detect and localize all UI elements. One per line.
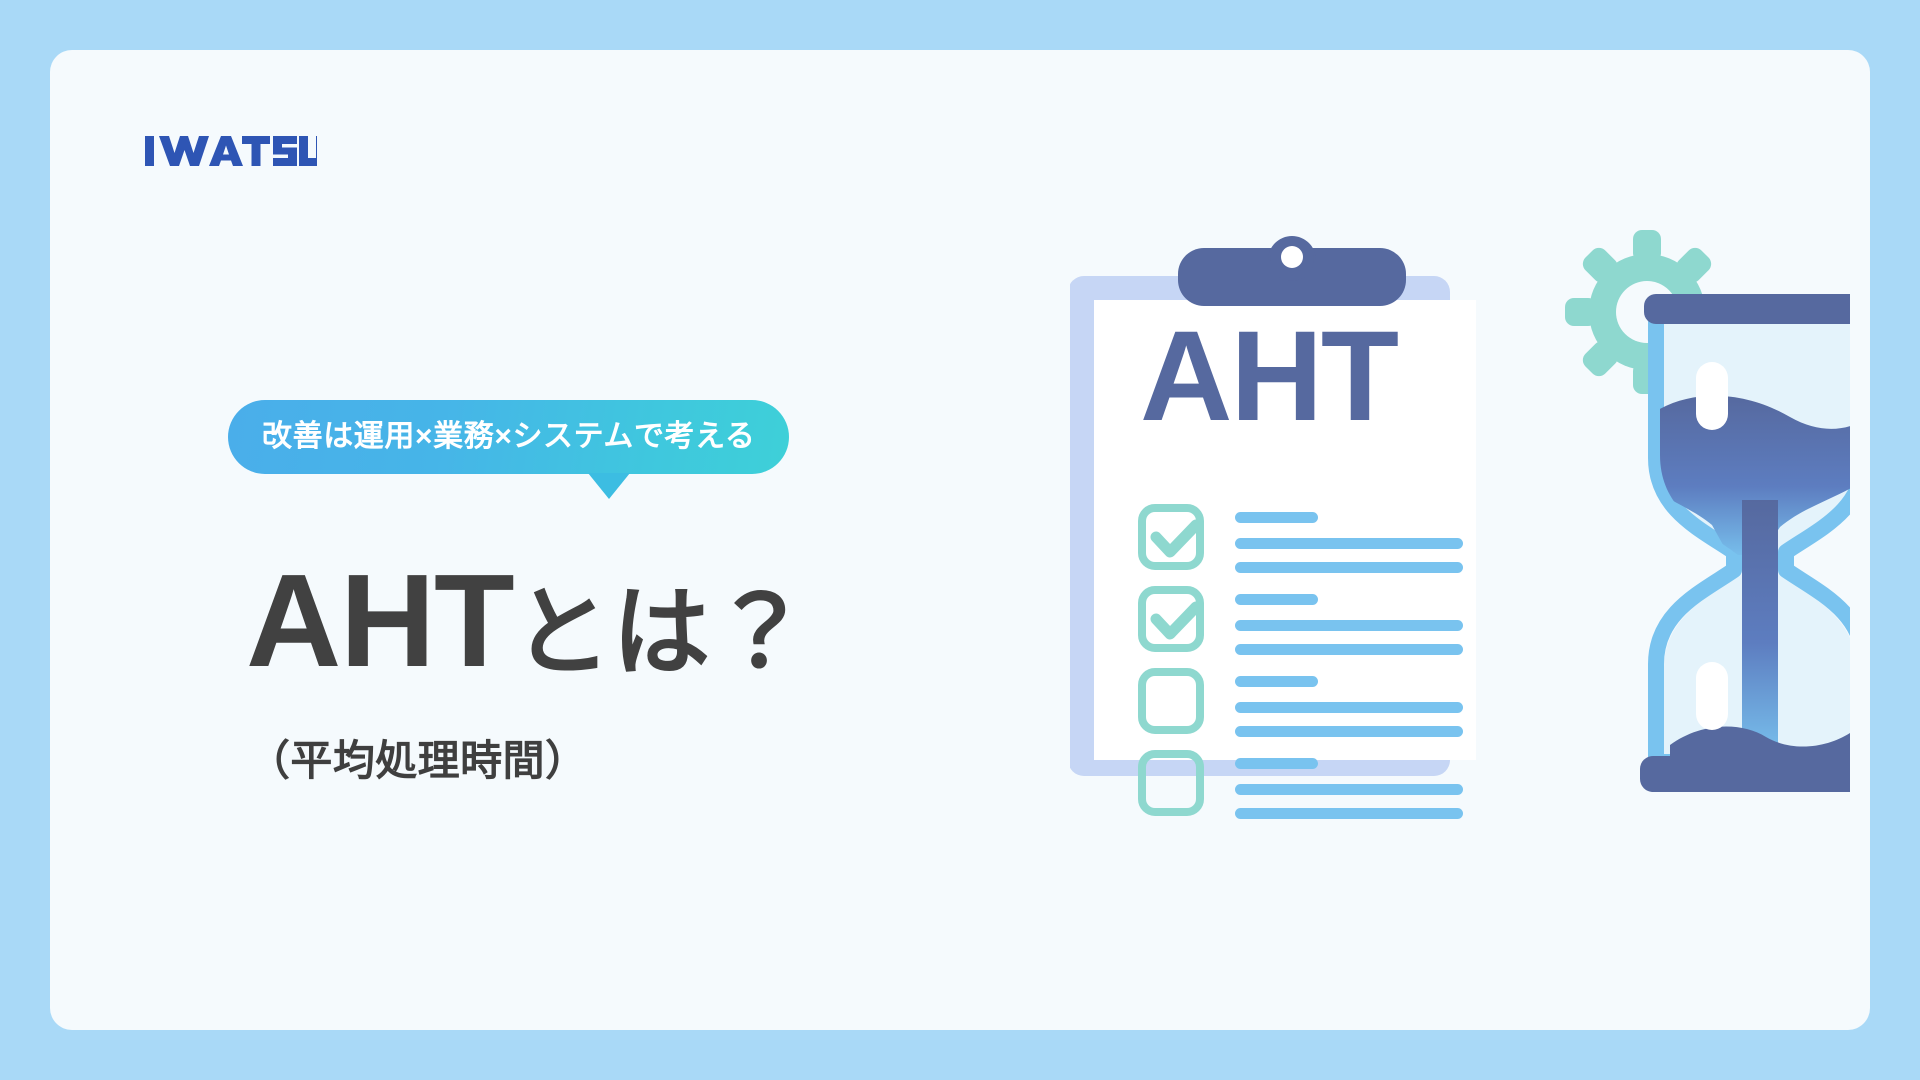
- badge-tail-icon: [588, 473, 630, 499]
- page-title-suffix: とは？: [513, 577, 810, 687]
- tagline-text: 改善は運用×業務×システムで考える: [262, 420, 755, 453]
- content-card: IWATSU 改善は運用×業務×システムで考える AHTとは？ （平均処理時間）: [50, 50, 1870, 1030]
- hourglass-base: [1640, 756, 1850, 792]
- clipboard-clip: [1178, 236, 1406, 306]
- page-root: IWATSU 改善は運用×業務×システムで考える AHTとは？ （平均処理時間）: [0, 0, 1920, 1080]
- page-title: AHTとは？: [246, 555, 810, 687]
- hourglass-highlight: [1696, 662, 1728, 730]
- clipboard: AHT: [1070, 236, 1476, 819]
- tagline-badge: 改善は運用×業務×システムで考える: [228, 400, 789, 474]
- clipboard-title: AHT: [1140, 305, 1398, 448]
- hourglass-highlight: [1696, 362, 1728, 430]
- aht-illustration: AHT: [1070, 200, 1850, 840]
- hourglass-icon: [1640, 294, 1850, 792]
- hourglass-cap: [1644, 294, 1850, 324]
- page-subtitle: （平均処理時間）: [248, 727, 587, 788]
- iwatsu-logo: IWATSU: [145, 136, 317, 166]
- badge-wrapper: 改善は運用×業務×システムで考える: [228, 400, 956, 474]
- page-title-main: AHT: [246, 547, 513, 694]
